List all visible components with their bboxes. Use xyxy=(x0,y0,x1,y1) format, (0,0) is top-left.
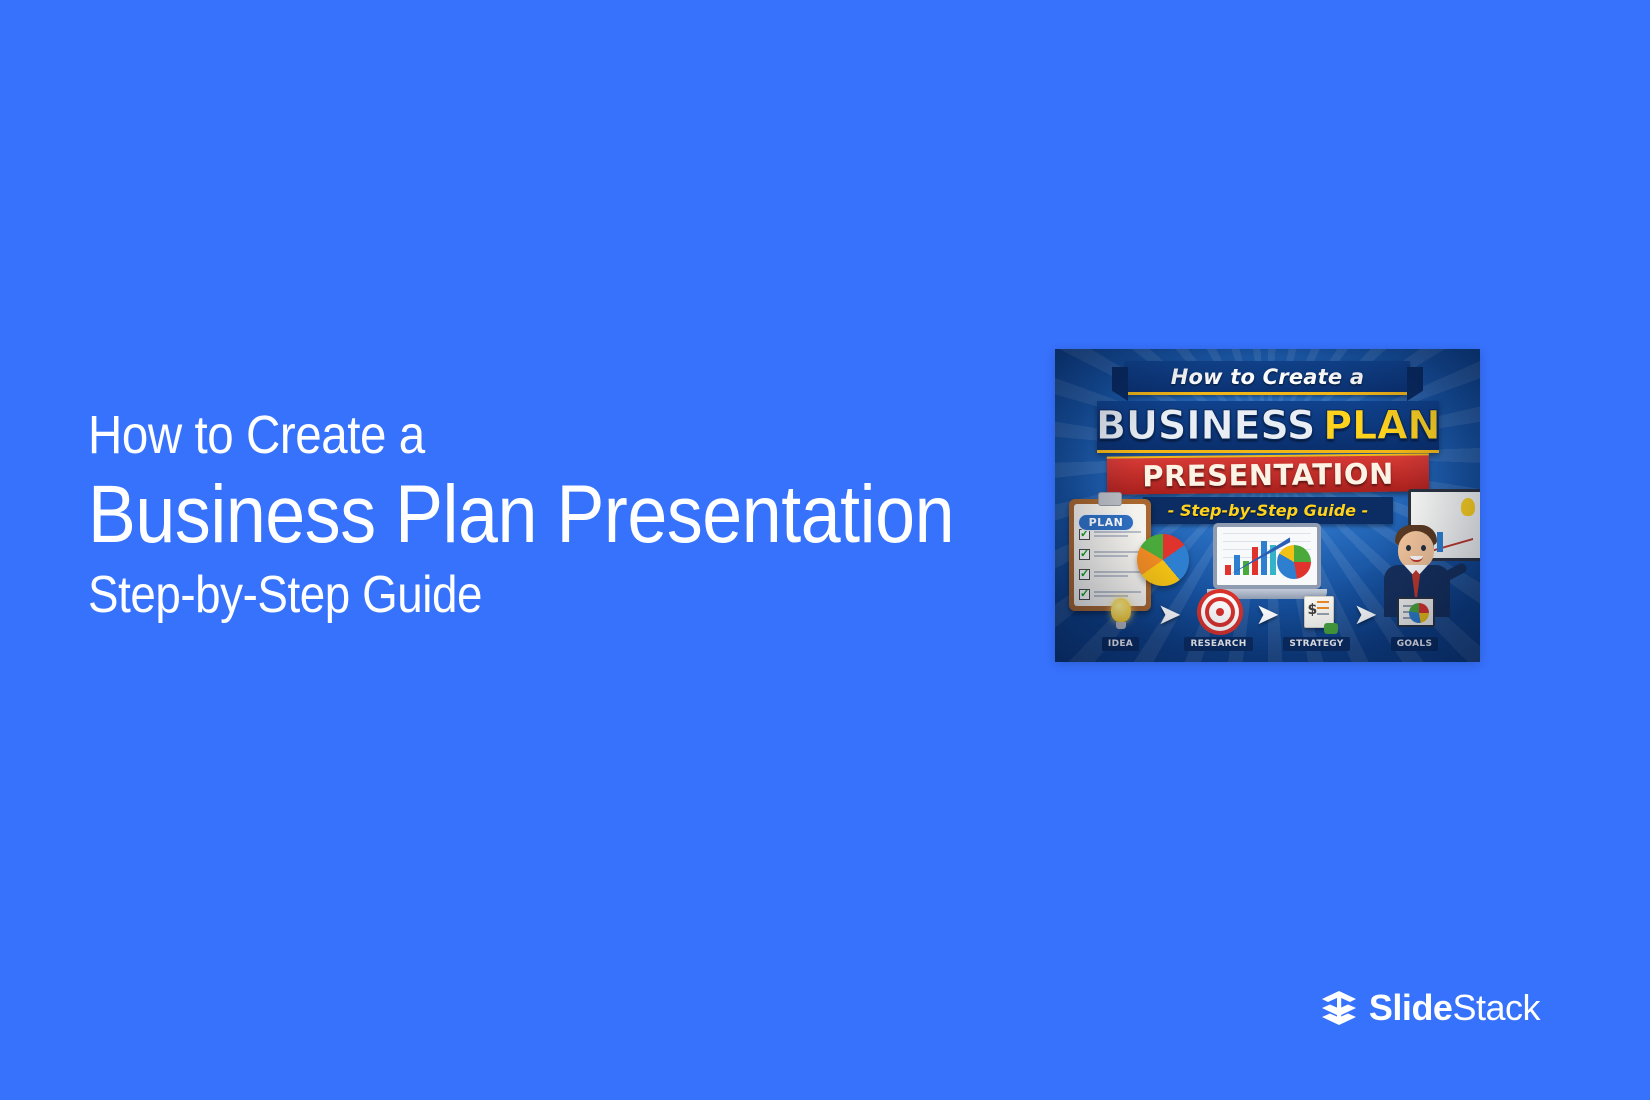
logo-light-part: Stack xyxy=(1452,987,1540,1028)
thumbnail-step-bar-text: - Step-by-Step Guide - xyxy=(1168,501,1368,520)
page-title: How to Create a Business Plan Presentati… xyxy=(88,404,1048,626)
process-step-strip: IDEA ➤ RESEARCH ➤ STRATEGY ➤ xyxy=(1055,588,1480,662)
document-money-icon xyxy=(1294,594,1340,634)
process-step-idea: IDEA xyxy=(1089,594,1153,651)
target-icon xyxy=(1196,594,1242,634)
process-step-label: GOALS xyxy=(1391,637,1438,651)
arrow-right-icon: ➤ xyxy=(1157,594,1183,634)
process-step-label: IDEA xyxy=(1102,637,1139,651)
presentation-board-icon xyxy=(1392,594,1438,634)
lightbulb-icon xyxy=(1098,594,1144,634)
clipboard-badge: PLAN xyxy=(1078,514,1134,531)
brand-logo[interactable]: SlideStack xyxy=(1319,988,1540,1028)
pie-chart-icon xyxy=(1409,603,1429,623)
headline-word-plan: PLAN xyxy=(1323,406,1440,446)
money-icon xyxy=(1324,623,1338,634)
checklist-lines xyxy=(1094,531,1141,539)
clipboard-badge-label: PLAN xyxy=(1089,516,1124,529)
thumbnail-step-bar: - Step-by-Step Guide - xyxy=(1143,497,1393,524)
clipboard-clamp-icon xyxy=(1098,492,1122,506)
pie-chart-icon xyxy=(1277,545,1311,579)
arrow-right-icon: ➤ xyxy=(1353,594,1379,634)
checklist-row: ✓ xyxy=(1079,569,1141,580)
process-step-strategy: STRATEGY xyxy=(1285,594,1349,651)
brand-logo-text: SlideStack xyxy=(1369,990,1540,1026)
checklist-lines xyxy=(1094,551,1141,559)
stacked-layers-icon xyxy=(1319,988,1359,1028)
title-eyebrow: How to Create a xyxy=(88,404,933,466)
headline-word-business: BUSINESS xyxy=(1096,406,1315,446)
thumbnail-top-banner-text: How to Create a xyxy=(1171,365,1364,389)
eye-right xyxy=(1421,545,1426,551)
process-step-label: RESEARCH xyxy=(1184,637,1252,651)
eye-left xyxy=(1406,545,1411,551)
title-subtitle: Step-by-Step Guide xyxy=(88,564,933,626)
thumbnail-headline: BUSINESS PLAN xyxy=(1097,401,1439,453)
head-shape xyxy=(1398,531,1434,569)
thumbnail-top-banner: How to Create a xyxy=(1125,361,1410,395)
bar-chart-icon xyxy=(1225,537,1276,575)
title-main: Business Plan Presentation xyxy=(88,468,928,562)
checklist-lines xyxy=(1094,571,1141,579)
process-step-research: RESEARCH xyxy=(1187,594,1251,651)
pie-chart-icon xyxy=(1137,534,1189,586)
laptop-screen xyxy=(1213,523,1321,589)
process-step-label: STRATEGY xyxy=(1283,637,1349,651)
process-step-goals: GOALS xyxy=(1383,594,1447,651)
arrow-right-icon: ➤ xyxy=(1255,594,1281,634)
checklist-row: ✓ xyxy=(1079,549,1141,560)
checkmark-icon: ✓ xyxy=(1079,549,1090,560)
checkmark-icon: ✓ xyxy=(1079,569,1090,580)
logo-bold-part: Slide xyxy=(1369,987,1453,1028)
thumbnail-ribbon-text: PRESENTATION xyxy=(1142,457,1394,494)
thumbnail-ribbon: PRESENTATION xyxy=(1107,453,1429,494)
article-thumbnail[interactable]: How to Create a BUSINESS PLAN PRESENTATI… xyxy=(1055,349,1480,662)
